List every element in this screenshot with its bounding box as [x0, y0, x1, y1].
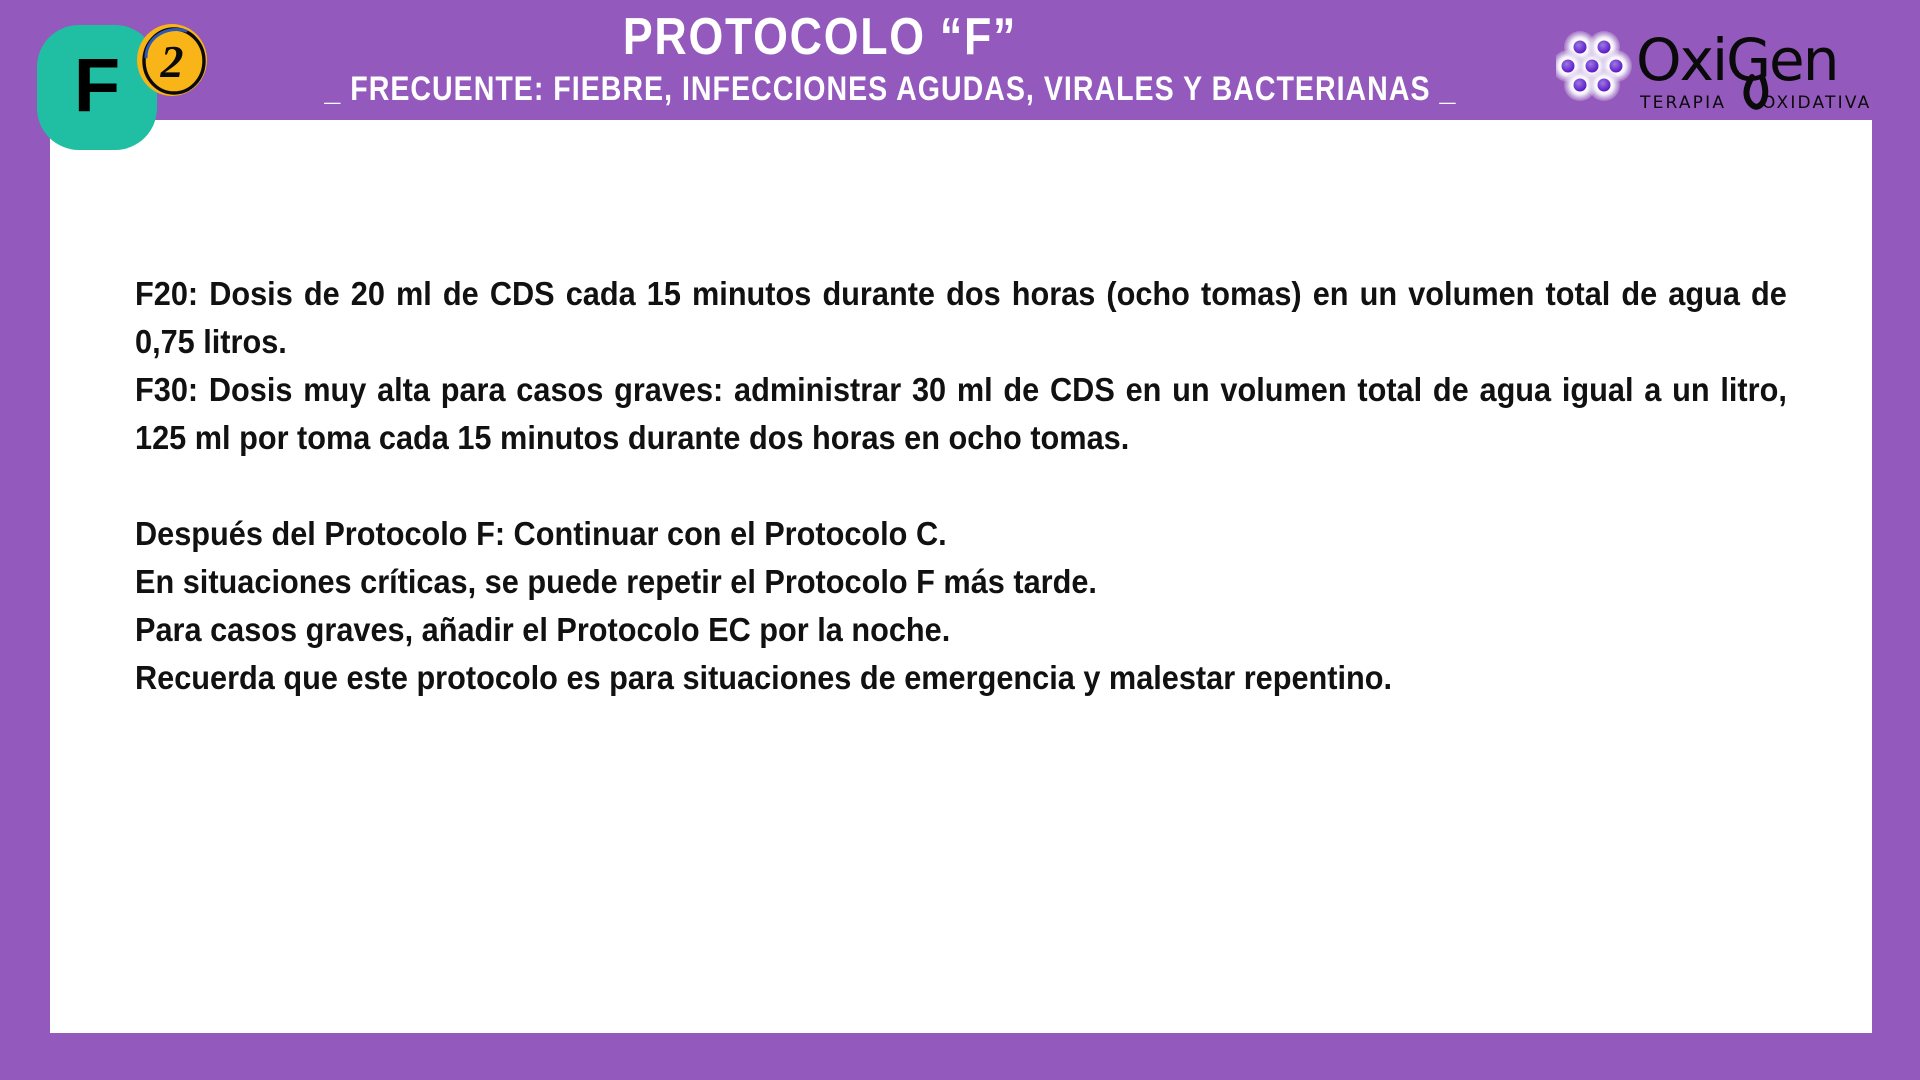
page-subtitle: _ FRECUENTE: FIEBRE, INFECCIONES AGUDAS,… — [324, 68, 1315, 110]
page-title: PROTOCOLO “F” — [313, 6, 1328, 68]
svg-text:OxiGen: OxiGen — [1636, 26, 1837, 94]
oxigen-logo-icon: OxiGen TERAPIA OXIDATIVA — [1556, 22, 1886, 114]
paragraph-f20: F20: Dosis de 20 ml de CDS cada 15 minut… — [135, 270, 1787, 366]
note-severe-cases: Para casos graves, añadir el Protocolo E… — [135, 606, 1787, 654]
protocol-body: F20: Dosis de 20 ml de CDS cada 15 minut… — [135, 270, 1795, 702]
paragraph-f30: F30: Dosis muy alta para casos graves: a… — [135, 366, 1787, 462]
cell-cluster-icon — [1556, 31, 1632, 101]
svg-text:2: 2 — [160, 36, 184, 87]
note-after-protocol: Después del Protocolo F: Continuar con e… — [135, 510, 1787, 558]
protocol-number-coin: 2 2 — [134, 21, 210, 99]
brand-logo: OxiGen TERAPIA OXIDATIVA — [1556, 22, 1886, 114]
paragraph-spacer — [135, 462, 1795, 510]
svg-text:OXIDATIVA: OXIDATIVA — [1762, 93, 1871, 113]
note-critical-situations: En situaciones críticas, se puede repeti… — [135, 558, 1787, 606]
note-reminder: Recuerda que este protocolo es para situ… — [135, 654, 1787, 702]
coin-icon: 2 — [134, 21, 210, 99]
svg-text:TERAPIA: TERAPIA — [1639, 93, 1726, 113]
header-title-block: PROTOCOLO “F” _ FRECUENTE: FIEBRE, INFEC… — [230, 6, 1410, 110]
content-card: F20: Dosis de 20 ml de CDS cada 15 minut… — [50, 120, 1872, 1033]
